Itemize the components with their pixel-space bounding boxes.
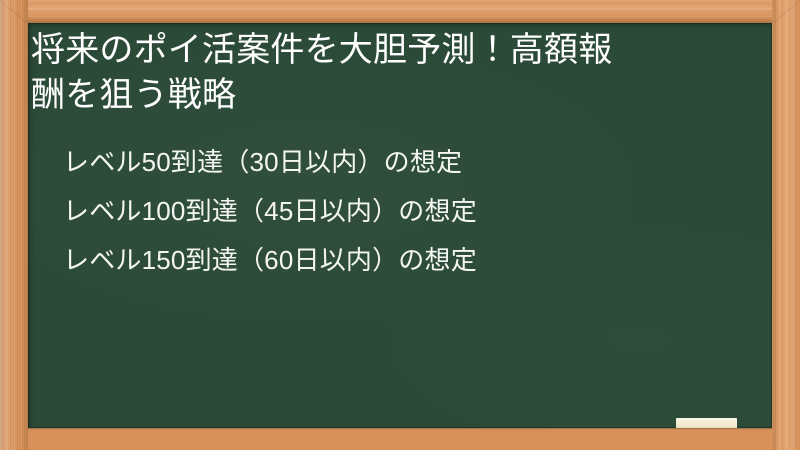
board-title: 将来のポイ活案件を大胆予測！高額報 酬を狙う戦略 (31, 28, 749, 118)
board-line-item: レベル150到達（60日以内）の想定 (63, 247, 762, 273)
board-line-item: レベル50到達（30日以内）の想定 (63, 149, 762, 175)
board-line-list: レベル50到達（30日以内）の想定 レベル100到達（45日以内）の想定 レベル… (63, 149, 762, 296)
frame-stile-right (772, 0, 800, 450)
frame-stile-left (0, 0, 28, 450)
blackboard-slide: 将来のポイ活案件を大胆予測！高額報 酬を狙う戦略 レベル50到達（30日以内）の… (0, 0, 800, 450)
chalk-stick (676, 418, 737, 428)
frame-rail-top (0, 0, 800, 23)
frame-rail-bottom (0, 428, 800, 450)
chalkboard-surface: 将来のポイ活案件を大胆予測！高額報 酬を狙う戦略 レベル50到達（30日以内）の… (28, 23, 772, 428)
board-line-item: レベル100到達（45日以内）の想定 (63, 198, 762, 224)
